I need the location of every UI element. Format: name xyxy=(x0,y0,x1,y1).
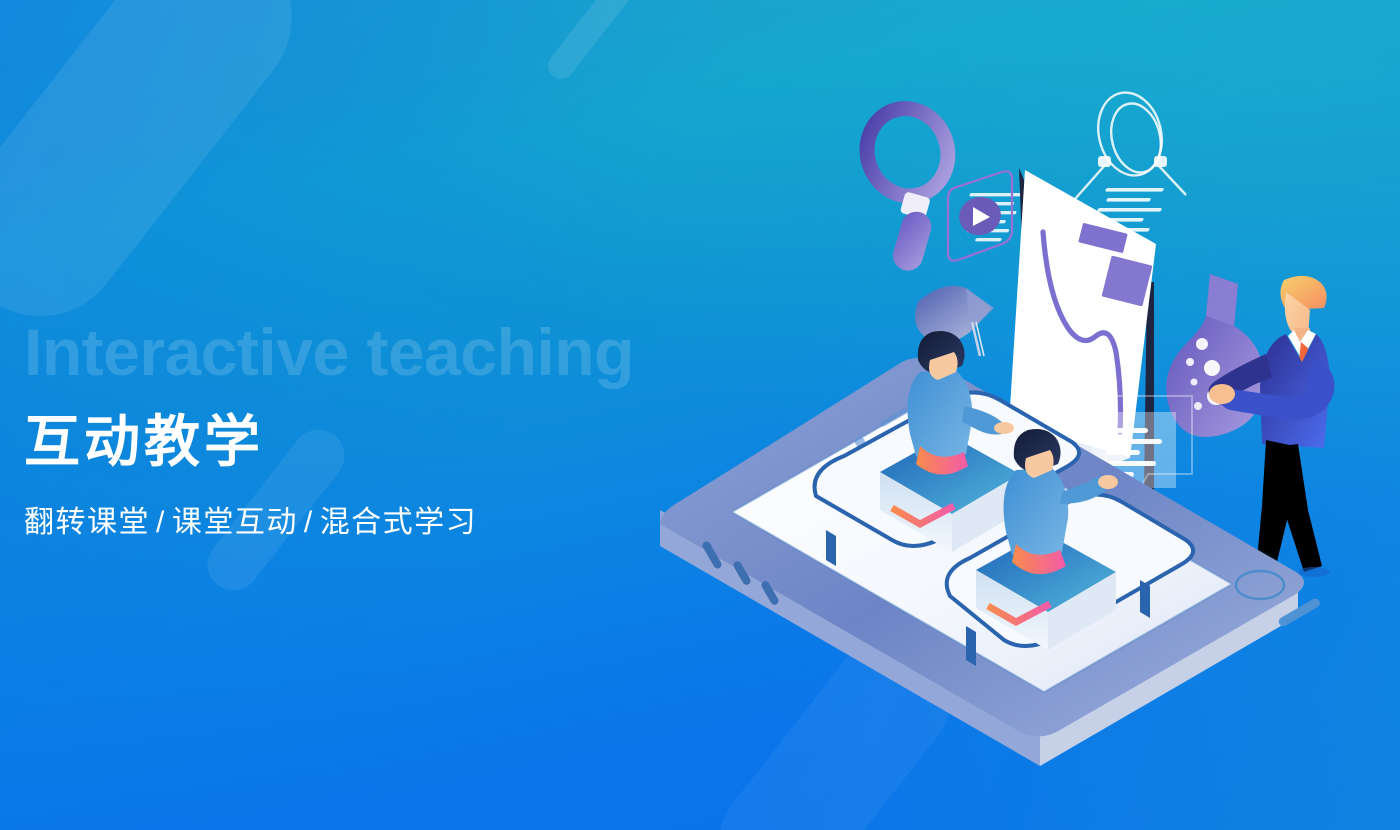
subtitle-part-2: 课堂互动 xyxy=(172,506,298,539)
table-back-leg xyxy=(826,530,836,566)
student-back-shirt xyxy=(908,370,973,464)
teacher-leg-front xyxy=(1282,444,1322,572)
subtitle-separator-2: / xyxy=(298,506,320,539)
table-front-leg-2 xyxy=(1140,580,1150,618)
student-back-hand xyxy=(994,422,1014,434)
subtitle-part-1: 翻转课堂 xyxy=(24,506,150,539)
student-front-hand xyxy=(1098,475,1118,489)
illustration xyxy=(620,60,1400,830)
subtitle-part-3: 混合式学习 xyxy=(320,506,478,539)
teacher-hand xyxy=(1209,384,1235,404)
magnifier-icon xyxy=(844,98,982,282)
student-front-shirt xyxy=(1004,468,1069,562)
interactive-teaching-banner: Interactive teaching 互动教学 翻转课堂/课堂互动/混合式学… xyxy=(0,0,1400,830)
decor-diagonal-bar-large xyxy=(0,0,326,350)
video-play-icon[interactable] xyxy=(948,171,1012,260)
loop-outline-icon xyxy=(1075,86,1186,199)
table-front-leg-1 xyxy=(966,626,976,666)
subtitle-separator-1: / xyxy=(150,506,172,539)
